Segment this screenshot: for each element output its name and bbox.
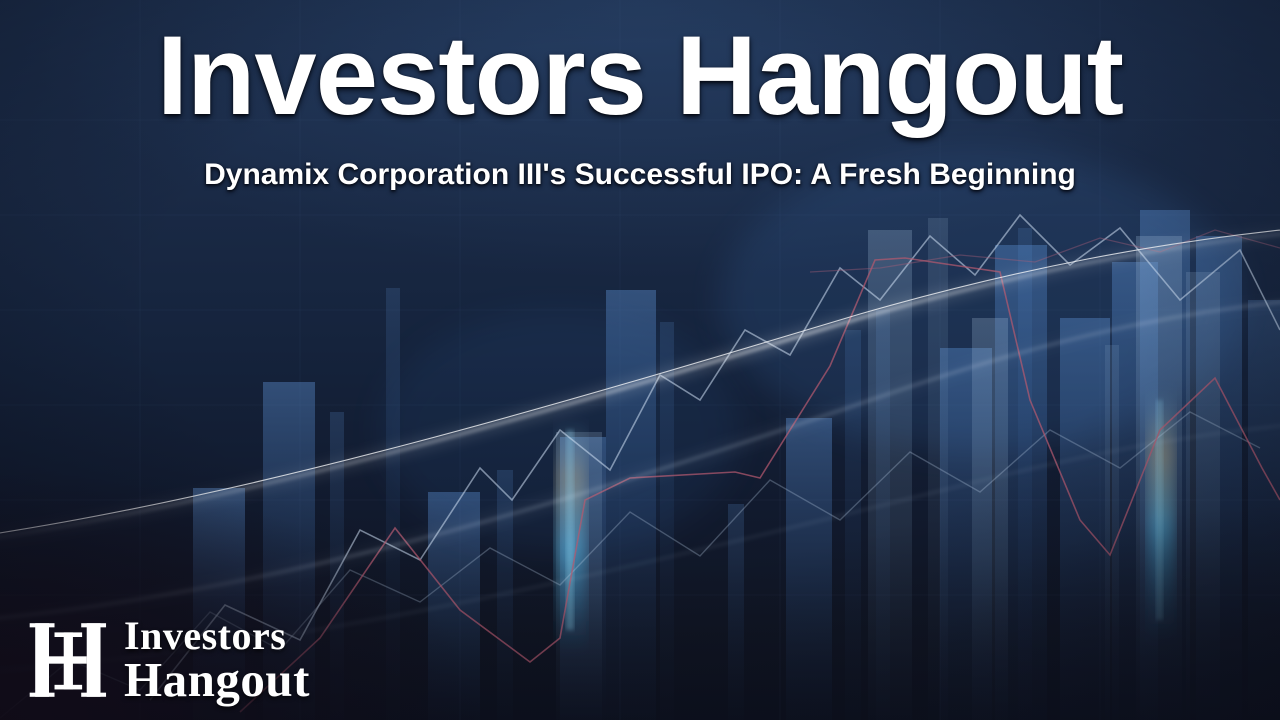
chart-bars-back <box>193 210 1280 720</box>
page-title: Investors Hangout <box>0 0 1280 132</box>
hero-banner: Investors Hangout Dynamix Corporation II… <box>0 0 1280 720</box>
ambient-glow <box>380 150 1240 550</box>
logo-line-hangout: Hangout <box>124 656 310 704</box>
logo-wordmark: Investors Hangout <box>124 616 310 703</box>
chart-trend-swoosh-secondary <box>0 300 1280 620</box>
logo-line-investors: Investors <box>124 616 310 655</box>
chart-trend-swoosh <box>0 228 1280 540</box>
glow-column <box>556 390 1174 650</box>
chart-bars-front <box>556 218 1220 720</box>
chart-line-crimson-upper <box>810 230 1280 272</box>
page-subtitle: Dynamix Corporation III's Successful IPO… <box>0 132 1280 191</box>
chart-line-white-zigzag <box>150 215 1280 700</box>
title-block: Investors Hangout Dynamix Corporation II… <box>0 0 1280 191</box>
chart-line-crimson <box>240 258 1280 712</box>
bottom-right-shadow <box>760 420 1280 720</box>
brand-logo[interactable]: Investors Hangout <box>26 614 310 706</box>
ih-monogram-icon <box>26 614 118 706</box>
